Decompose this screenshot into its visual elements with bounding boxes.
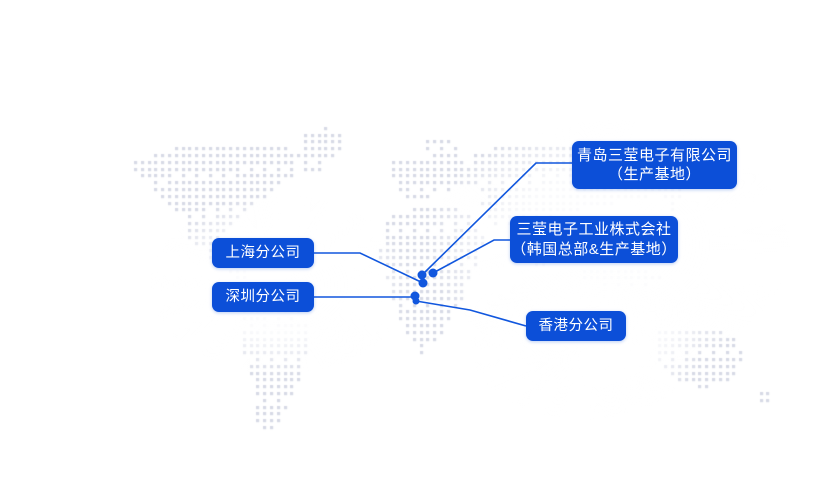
korea-connector [433, 240, 510, 273]
qingdao-marker[interactable] [418, 271, 427, 280]
label-hongkong-branch[interactable]: 香港分公司 [526, 311, 626, 341]
label-shanghai-line1: 上海分公司 [226, 244, 301, 263]
hongkong-connector [416, 301, 526, 326]
world-map-diagram: 青岛三莹电子有限公司 （生产基地） 三莹电子工业株式会社 （韩国总部&生产基地）… [0, 0, 824, 480]
label-korea-headquarters[interactable]: 三莹电子工业株式会社 （韩国总部&生产基地） [510, 216, 678, 263]
label-shenzhen-branch[interactable]: 深圳分公司 [212, 282, 314, 312]
shanghai-connector [314, 253, 423, 283]
hongkong-marker[interactable] [413, 298, 420, 305]
label-qingdao-line2: （生产基地） [608, 165, 701, 184]
label-shenzhen-line1: 深圳分公司 [226, 288, 301, 307]
label-korea-line2: （韩国总部&生产基地） [511, 240, 677, 259]
label-qingdao-line1: 青岛三莹电子有限公司 [577, 146, 732, 165]
label-qingdao-factory[interactable]: 青岛三莹电子有限公司 （生产基地） [572, 141, 737, 189]
label-hongkong-line1: 香港分公司 [539, 317, 614, 336]
label-korea-line1: 三莹电子工业株式会社 [516, 220, 671, 239]
label-shanghai-branch[interactable]: 上海分公司 [212, 238, 314, 268]
shanghai-marker[interactable] [419, 279, 428, 288]
connector-lines [0, 0, 824, 480]
korea-marker[interactable] [429, 269, 438, 278]
